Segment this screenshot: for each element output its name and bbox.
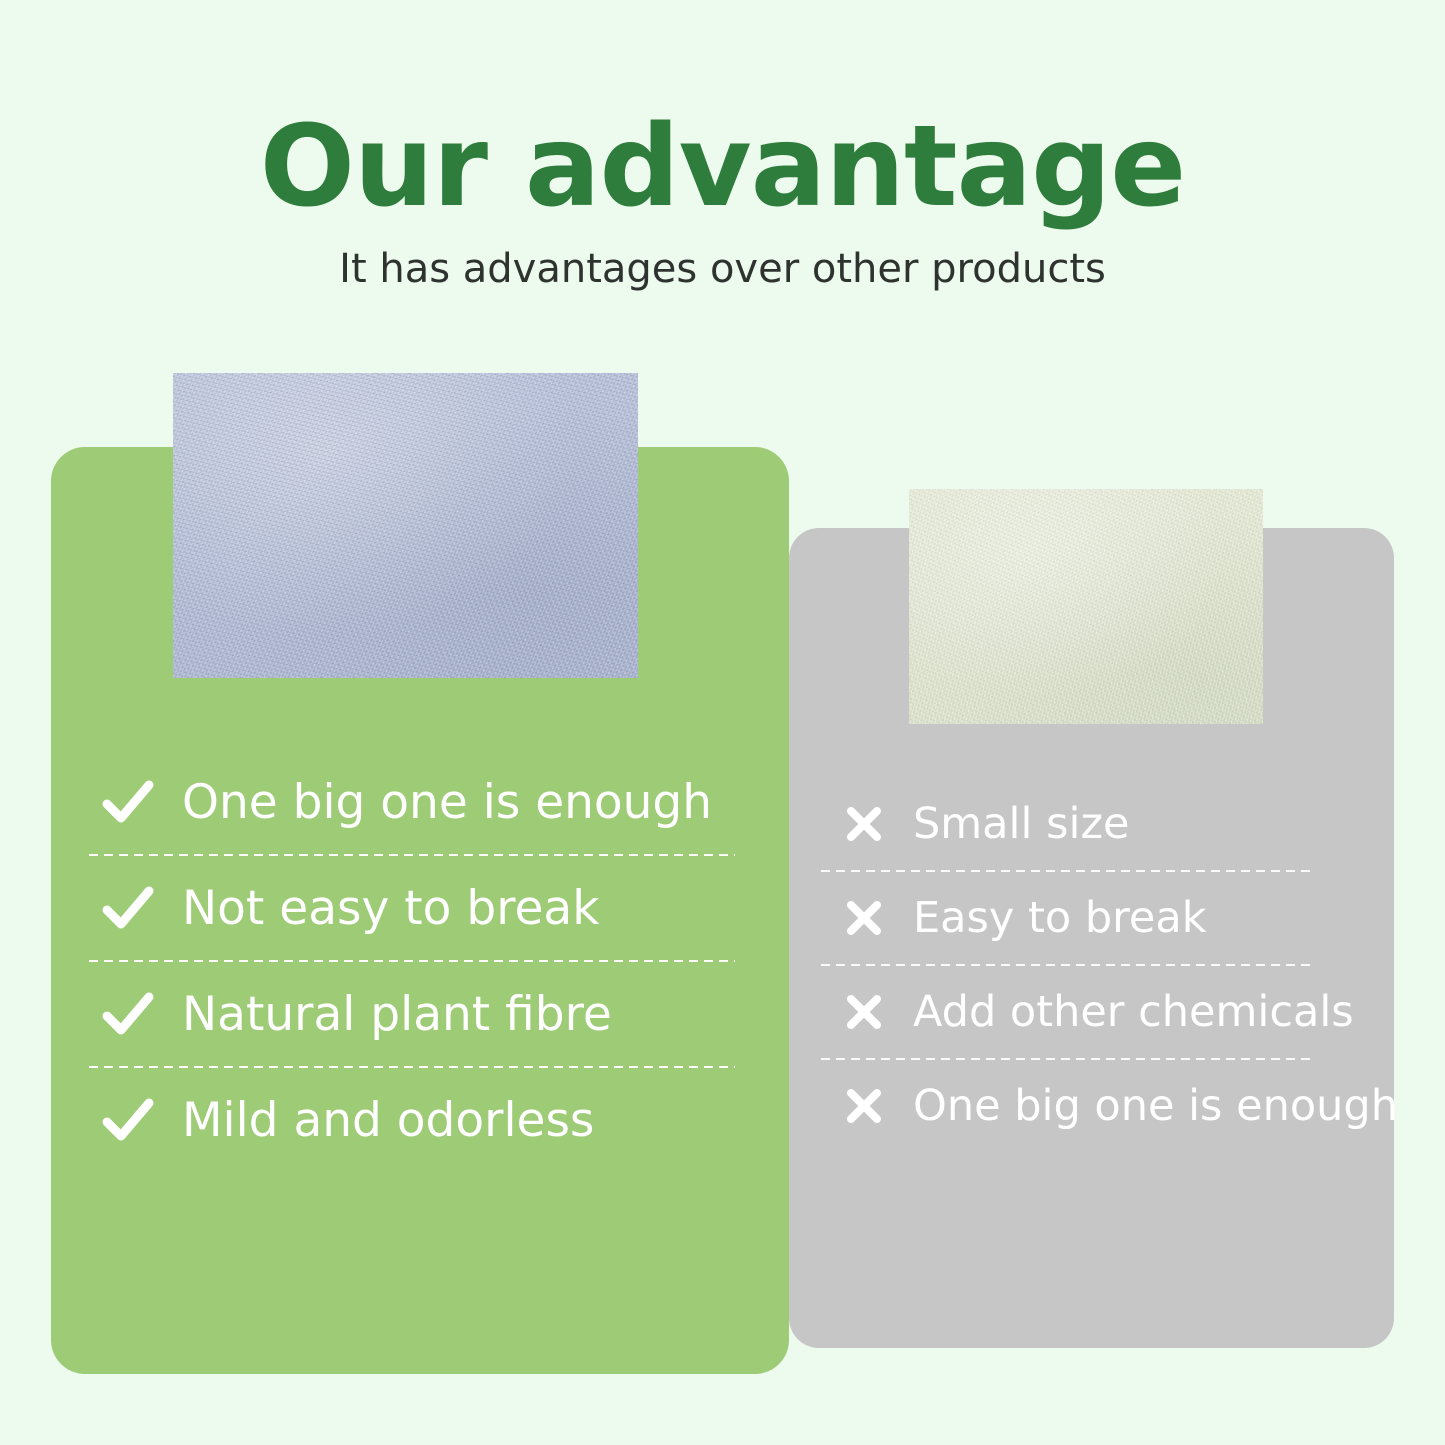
header: Our advantage It has advantages over oth… [0,0,1445,293]
list-item-label: One big one is enough [913,1085,1398,1128]
page-subtitle: It has advantages over other products [0,227,1445,293]
cross-icon [843,991,885,1033]
list-item-label: Not easy to break [182,885,599,932]
blue-cloth-swatch [173,373,638,678]
advantage-infographic: Our advantage It has advantages over oth… [0,0,1445,1445]
page-title: Our advantage [0,0,1445,227]
list-item-label: Mild and odorless [182,1097,594,1144]
cross-icon [843,803,885,845]
list-divider [821,1058,1315,1060]
list-item: Small size [789,778,1394,870]
cross-icon [843,897,885,939]
list-item: One big one is enough [789,1060,1394,1152]
list-item-label: Natural plant fibre [182,991,612,1038]
list-item: Easy to break [789,872,1394,964]
check-icon [100,880,156,936]
check-icon [100,1092,156,1148]
list-item: Not easy to break [51,856,789,960]
list-divider [821,870,1315,872]
list-item: Mild and odorless [51,1068,789,1172]
list-item-label: Small size [913,803,1129,846]
cream-cloth-swatch [909,489,1263,724]
other-products-list: Small size Easy to break Add other chemi… [789,778,1394,1152]
list-item: Natural plant fibre [51,962,789,1066]
list-item-label: Easy to break [913,897,1207,940]
list-item: One big one is enough [51,750,789,854]
check-icon [100,986,156,1042]
list-item-label: Add other chemicals [913,991,1354,1034]
advantage-list: One big one is enough Not easy to break … [51,750,789,1172]
check-icon [100,774,156,830]
list-item: Add other chemicals [789,966,1394,1058]
cross-icon [843,1085,885,1127]
list-divider [821,964,1315,966]
list-item-label: One big one is enough [182,779,712,826]
